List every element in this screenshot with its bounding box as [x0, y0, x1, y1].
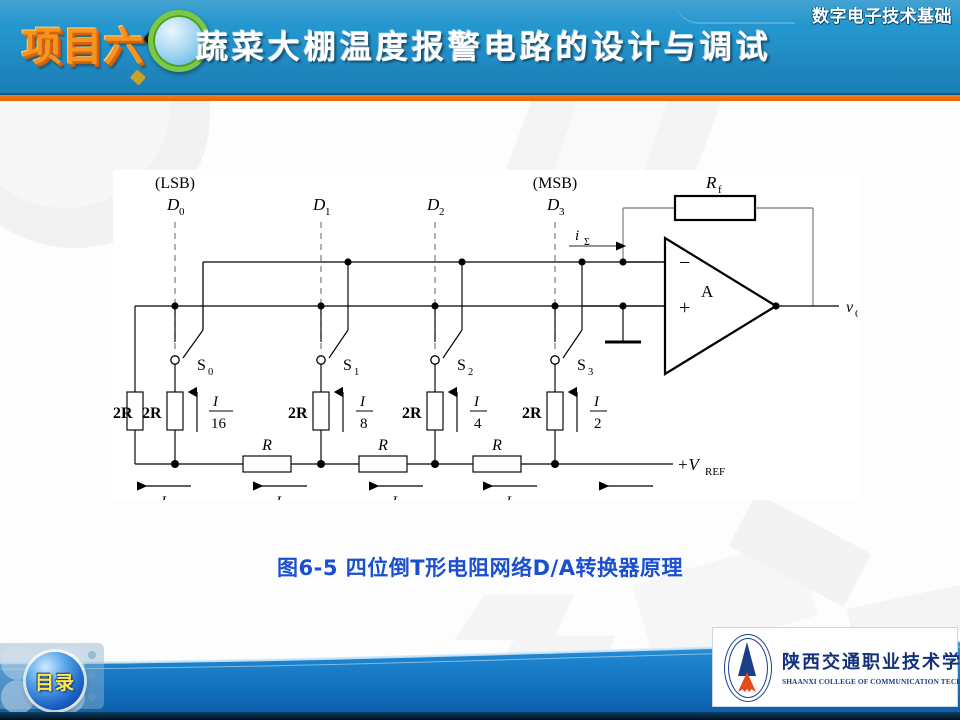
rail-num-1: I [275, 494, 282, 500]
rail-current-0: I 16 [157, 494, 181, 500]
branch-den-0: 16 [211, 416, 227, 432]
switch-sub-s0: 0 [208, 367, 213, 378]
shunt-label-4: 2R [522, 405, 542, 422]
sum-current-sub: Σ [584, 237, 590, 248]
branch-current-0: I 16 [209, 394, 233, 432]
feedback-resistor-label: R [705, 173, 717, 192]
slide-header: 数字电子技术基础 项目六 蔬菜大棚温度报警电路的设计与调试 [0, 0, 960, 101]
input-sub-d3: 3 [559, 206, 565, 218]
rail-num-2: I [391, 494, 398, 500]
input-sub-d1: 1 [325, 206, 331, 218]
input-sub-d2: 2 [439, 206, 445, 218]
rail-num-0: I [160, 494, 167, 500]
opamp-label: A [701, 282, 714, 301]
branch-den-3: 2 [594, 416, 602, 432]
lsb-label: (LSB) [155, 175, 195, 192]
switch-label-s0: S [197, 357, 206, 374]
output-sub: O [855, 309, 858, 320]
branch-den-1: 8 [360, 416, 368, 432]
output-label: v [846, 299, 854, 316]
msb-label: (MSB) [533, 175, 577, 192]
input-sub-d0: 0 [179, 206, 185, 218]
school-name-cn: 陕西交通职业技术学院 [782, 648, 960, 674]
shunt-label-2: 2R [288, 405, 308, 422]
rail-num-3: I [505, 494, 512, 500]
header-accent-bar [0, 95, 960, 101]
noninverting-input-label: + [679, 297, 690, 319]
rail-current-1: I 8 [272, 494, 289, 500]
shunt-label-3: 2R [402, 405, 422, 422]
vref-sub: REF [705, 466, 725, 478]
school-name-en: SHAANXI COLLEGE OF COMMUNICATION TECHNOL… [782, 677, 960, 686]
sum-current-label: i [575, 228, 579, 244]
feedback-resistor-sub: f [718, 184, 722, 196]
rail-current-3: I 2 [502, 494, 519, 500]
branch-num-3: I [593, 394, 600, 410]
inverting-input-label: − [679, 252, 690, 274]
switch-label-s1: S [343, 357, 352, 374]
series-label-0: R [261, 437, 272, 454]
input-label-d1: D [312, 195, 326, 214]
header-swoosh-decoration [675, 0, 795, 24]
branch-current-3: I 2 [590, 394, 607, 432]
shunt-label-0: 2R [113, 405, 133, 422]
input-label-d3: D [546, 195, 560, 214]
input-label-d2: D [426, 195, 440, 214]
rail-current-2: I 4 [388, 494, 405, 500]
switch-label-s3: S [577, 357, 586, 374]
branch-num-1: I [359, 394, 366, 410]
rail-num-4: I [620, 499, 627, 500]
branch-current-1: I 8 [356, 394, 373, 432]
branch-current-2: I 4 [470, 394, 487, 432]
toc-button-label: 目录 [35, 668, 75, 695]
table-of-contents-button[interactable]: 目录 [26, 652, 84, 710]
switch-sub-s3: 3 [588, 367, 593, 378]
switch-sub-s1: 1 [354, 367, 359, 378]
dac-circuit-diagram: (LSB) (MSB) D 0 D 1 D 2 D 3 S 0 S 1 S 2 … [113, 170, 858, 500]
switch-sub-s2: 2 [468, 367, 473, 378]
school-emblem-icon [716, 632, 778, 702]
vref-label: +V [677, 455, 701, 474]
branch-num-2: I [473, 394, 480, 410]
footer-bottom-strip [0, 712, 960, 720]
series-label-1: R [377, 437, 388, 454]
shunt-label-1: 2R [142, 405, 162, 422]
school-logo: 陕西交通职业技术学院 SHAANXI COLLEGE OF COMMUNICAT… [712, 627, 958, 707]
input-label-d0: D [166, 195, 180, 214]
figure-caption: 图6-5 四位倒T形电阻网络D/A转换器原理 [0, 552, 960, 582]
branch-num-0: I [212, 394, 219, 410]
figure-panel: (LSB) (MSB) D 0 D 1 D 2 D 3 S 0 S 1 S 2 … [113, 170, 858, 500]
page-title: 蔬菜大棚温度报警电路的设计与调试 [196, 22, 896, 78]
slide: 数字电子技术基础 项目六 蔬菜大棚温度报警电路的设计与调试 [0, 0, 960, 720]
switch-label-s2: S [457, 357, 466, 374]
branch-den-2: 4 [474, 416, 482, 432]
series-label-2: R [491, 437, 502, 454]
